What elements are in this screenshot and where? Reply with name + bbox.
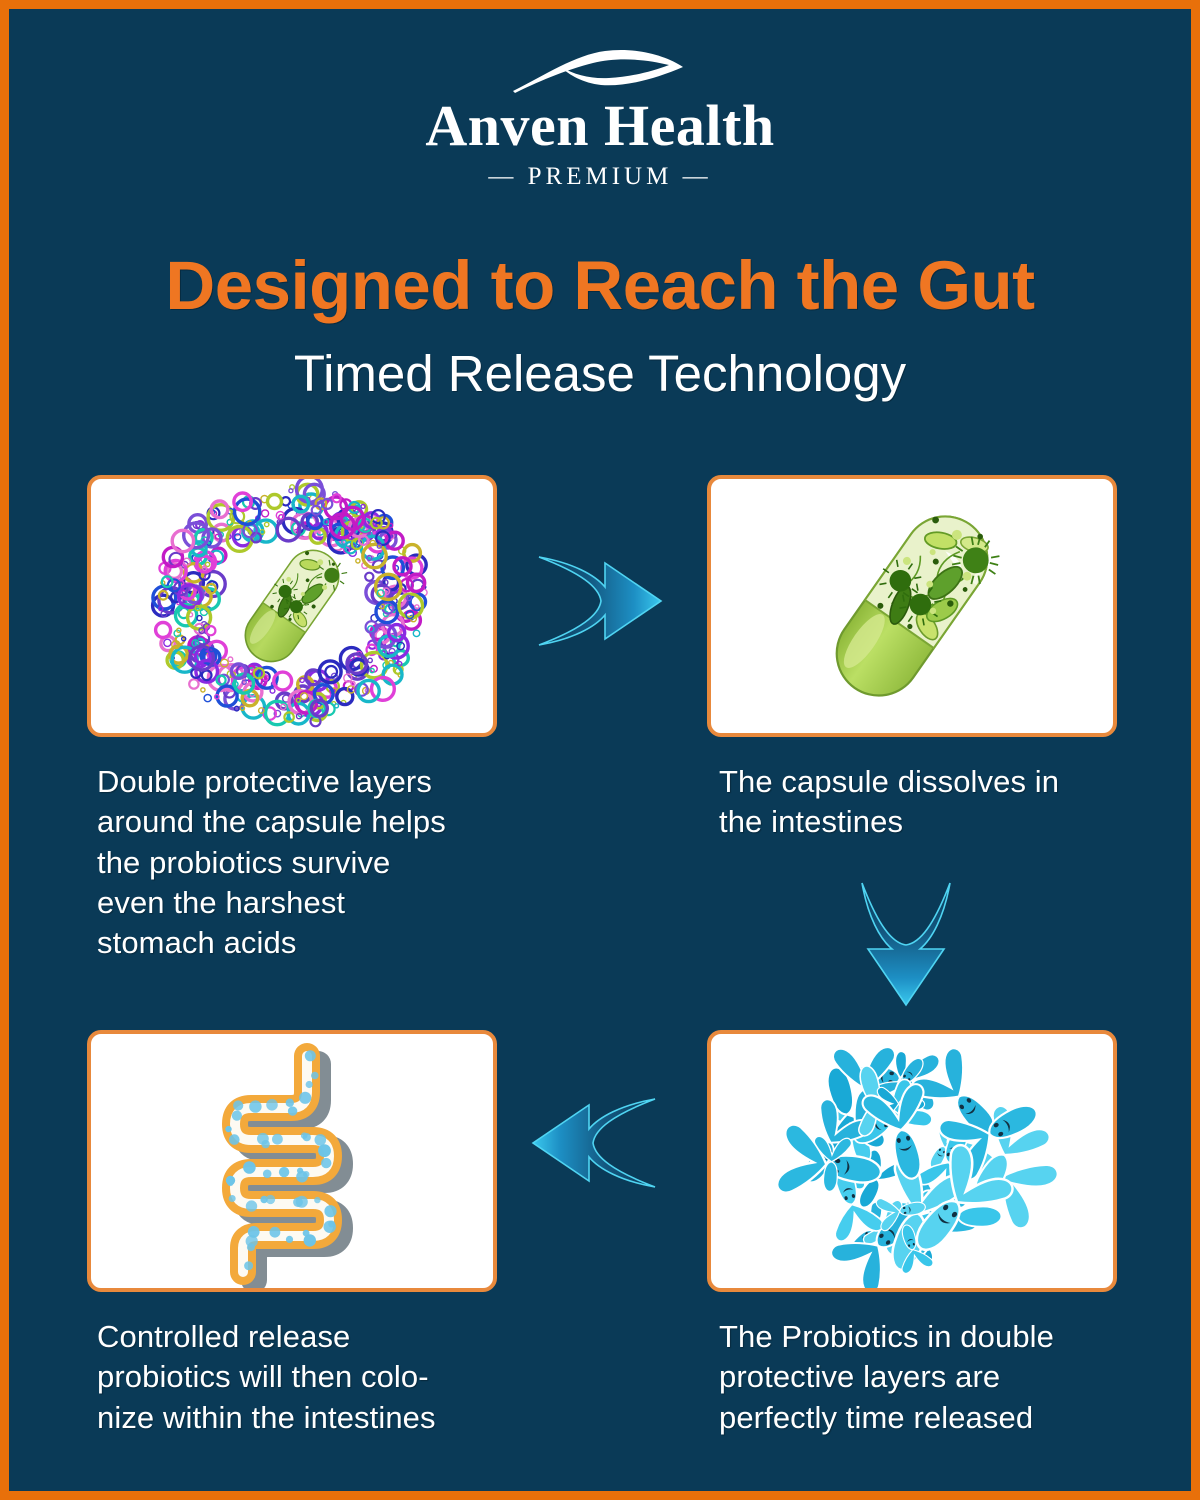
arrow-down-icon — [854, 881, 959, 1011]
step-4-caption: The Probiotics in double protective laye… — [719, 1317, 1139, 1438]
probiotic-bacteria-cluster-icon — [711, 1034, 1113, 1288]
brand-tagline: — PREMIUM — — [9, 163, 1191, 191]
step-1-image-panel — [87, 475, 497, 737]
intestine-with-probiotics-icon — [91, 1034, 493, 1288]
step-4-image-panel — [707, 1030, 1117, 1292]
step-1-caption: Double protective layers around the caps… — [97, 762, 527, 963]
arrow-right-icon — [537, 549, 667, 654]
page-subtitle: Timed Release Technology — [9, 344, 1191, 403]
step-3-caption: Controlled release probiotics will then … — [97, 1317, 527, 1438]
infographic-canvas: Anven Health — PREMIUM — Designed to Rea… — [9, 9, 1191, 1491]
capsule-surrounded-by-protective-layer-circles-icon — [91, 479, 493, 733]
brand-name: Anven Health — [9, 97, 1191, 155]
step-2-image-panel — [707, 475, 1117, 737]
leaf-icon — [505, 45, 695, 95]
brand-logo: Anven Health — PREMIUM — — [9, 45, 1191, 191]
step-3-image-panel — [87, 1030, 497, 1292]
page-title: Designed to Reach the Gut — [9, 246, 1191, 325]
step-2-caption: The capsule dissolves in the intestines — [719, 762, 1139, 843]
arrow-left-icon — [527, 1091, 657, 1196]
capsule-with-probiotics-icon — [711, 479, 1113, 733]
